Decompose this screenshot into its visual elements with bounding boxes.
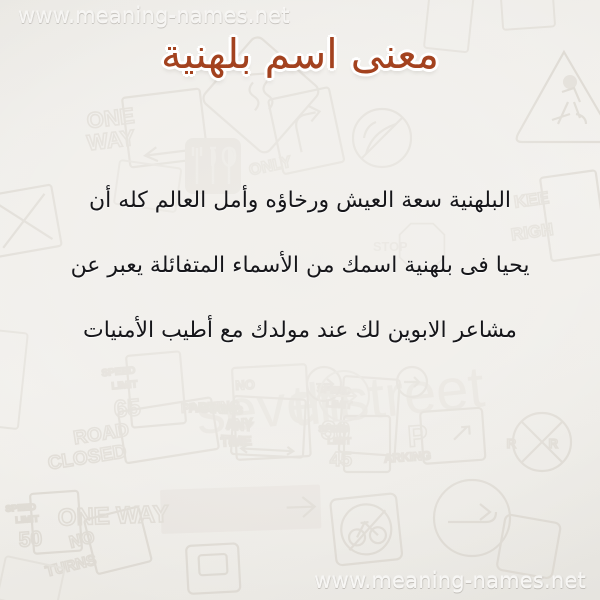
watermark-bottom-right: www.meaning-names.net <box>314 569 586 593</box>
meaning-line-1: البلهنية سعة العيش ورخاؤه وأمل العالم كل… <box>0 186 600 216</box>
name-meaning-page: ONE WAY ONLY <box>0 0 600 600</box>
svg-text:PARKING: PARKING <box>189 401 244 418</box>
svg-text:ROAD: ROAD <box>72 420 131 449</box>
svg-text:P: P <box>407 420 429 454</box>
speed-limit-50-sign-icon: SPEED LIMIT 50 <box>5 491 83 556</box>
svg-text:ONE: ONE <box>85 103 135 134</box>
svg-text:LIMIT: LIMIT <box>111 379 138 392</box>
one-way-right-banner-icon: ONE WAY <box>57 484 322 537</box>
turn-only-sign-icon: ONLY <box>236 87 345 181</box>
svg-text:SPEED: SPEED <box>318 424 349 434</box>
arrow-circle-left-icon <box>307 367 341 401</box>
page-title: معنى اسم بلهنية <box>0 27 600 81</box>
parking-sign-icon: P ARKING <box>381 408 486 467</box>
svg-text:ARKING: ARKING <box>383 448 431 465</box>
svg-text:WAY: WAY <box>86 125 137 156</box>
svg-text:CLOSED: CLOSED <box>46 441 127 474</box>
svg-text:LIMIT: LIMIT <box>325 399 352 412</box>
svg-text:R: R <box>549 436 559 451</box>
svg-text:R: R <box>507 436 517 451</box>
name-meaning-text-block: البلهنية سعة العيش ورخاؤه وأمل العالم كل… <box>0 186 600 346</box>
brand-ghost-text-2: thstreet <box>288 354 487 439</box>
one-way-left-sign-icon: ONE WAY <box>82 88 208 172</box>
svg-text:SPEED: SPEED <box>317 384 352 397</box>
svg-text:ONLY: ONLY <box>248 154 294 180</box>
bottom-left-chip-icon <box>0 556 65 600</box>
speed-limit-65-sign-icon: SPEED LIMIT 65 <box>100 351 186 430</box>
arrow-circle-small-icon <box>397 367 427 397</box>
svg-text:NO: NO <box>67 527 96 552</box>
svg-text:45: 45 <box>330 449 352 471</box>
no-bicycles-sign-icon <box>330 493 403 566</box>
watermark-top-left: www.meaning-names.net <box>18 4 290 28</box>
speed-limit-45-sign-icon: SPEED LIMIT 45 <box>318 416 390 472</box>
svg-text:LIMIT: LIMIT <box>328 436 352 446</box>
no-turns-sign-icon: NO TURNS <box>36 506 152 586</box>
no-parking-any-time-sign-icon: NO PARKING ANY TIME <box>179 364 311 463</box>
svg-text:ANY: ANY <box>225 415 254 431</box>
brand-ghost-text: seven <box>193 366 354 447</box>
turn-arrow-circle-icon <box>434 480 510 556</box>
svg-text:TIME: TIME <box>221 432 250 447</box>
device-sign-icon <box>186 543 240 594</box>
svg-text:SPEED: SPEED <box>101 365 136 379</box>
svg-text:30: 30 <box>320 415 351 447</box>
brand-arrow-circle-icon <box>319 371 369 421</box>
svg-text:65: 65 <box>113 394 142 423</box>
no-entry-sign-icon <box>353 109 411 167</box>
railroad-crossing-circle-icon: R R <box>507 413 571 471</box>
speed-limit-30-sign-icon: SPEED LIMIT 30 <box>313 374 400 456</box>
no-parking-arrow-sign-icon: PARKING ANY TIME <box>187 394 306 458</box>
road-closed-sign-icon: ROAD CLOSED <box>42 397 219 475</box>
svg-text:TURNS: TURNS <box>44 552 98 581</box>
svg-text:TIME: TIME <box>220 433 252 450</box>
svg-text:LIMIT: LIMIT <box>15 513 40 525</box>
top-edge-sign-chip-2-icon <box>500 0 555 30</box>
svg-text:ONE WAY: ONE WAY <box>57 501 169 532</box>
meaning-line-2: يحيا فى بلهنية اسمك من الأسماء المتفائلة… <box>0 251 600 281</box>
svg-text:NO: NO <box>235 377 255 393</box>
svg-text:PARKING: PARKING <box>181 398 241 416</box>
svg-text:SPEED: SPEED <box>5 502 37 514</box>
meaning-line-3: مشاعر الابوين لك عند مولدك مع أطيب الأمن… <box>0 316 600 346</box>
svg-text:50: 50 <box>18 527 43 552</box>
svg-text:ANY: ANY <box>227 419 253 434</box>
